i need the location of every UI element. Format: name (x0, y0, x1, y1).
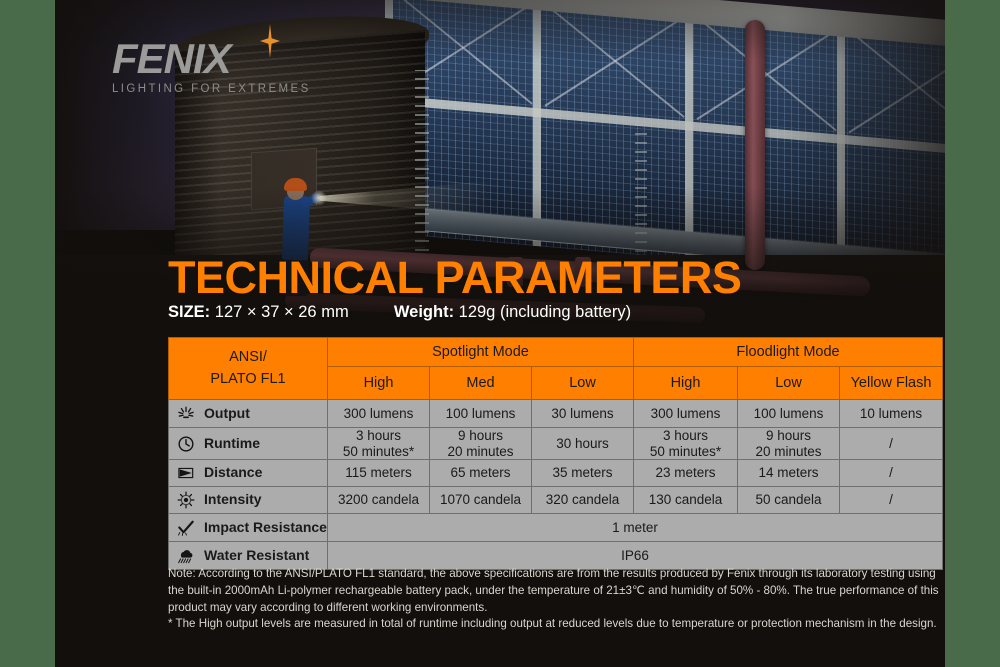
cell-output-spot-med: 100 lumens (430, 400, 532, 428)
cell-distance-yellow-flash: / (840, 460, 943, 487)
cell-runtime-flood-high: 3 hours 50 minutes* (634, 428, 738, 460)
checkmark-impact-icon (175, 518, 197, 538)
cell-distance-spot-high: 115 meters (328, 460, 430, 487)
cell-distance-spot-med: 65 meters (430, 460, 532, 487)
weight-label: Weight: (394, 303, 454, 321)
rain-cloud-icon (175, 546, 197, 566)
cell-distance-flood-low: 14 meters (738, 460, 840, 487)
row-label-text-impact-resistance: Impact Resistance (204, 520, 327, 536)
sunburst-icon (175, 404, 197, 424)
row-label-distance: Distance (169, 460, 328, 487)
cell-runtime-spot-high-l1: 3 hours (328, 428, 429, 443)
cell-runtime-flood-low-l1: 9 hours (738, 428, 839, 443)
cell-intensity-flood-low: 50 candela (738, 487, 840, 514)
fenix-logo: FENIX LIGHTING FOR EXTREMES (112, 38, 342, 95)
cell-intensity-spot-low: 320 candela (532, 487, 634, 514)
cell-impact-resistance-value: 1 meter (328, 514, 943, 542)
table-row-output: Output 300 lumens 100 lumens 30 lumens 3… (169, 400, 943, 428)
technical-parameters-table: ANSI/ PLATO FL1 Spotlight Mode Floodligh… (168, 337, 943, 570)
cell-runtime-spot-med-l2: 20 minutes (430, 444, 531, 459)
row-label-text-distance: Distance (204, 465, 262, 481)
row-label-impact-resistance: Impact Resistance (169, 514, 328, 542)
header-level-flood-high: High (634, 367, 738, 400)
spec-summary-line: SIZE: 127 × 37 × 26 mm Weight: 129g (inc… (168, 303, 631, 322)
header-level-spot-low: Low (532, 367, 634, 400)
cell-runtime-flood-high-l2: 50 minutes* (634, 444, 737, 459)
cell-runtime-yellow-flash: / (840, 428, 943, 460)
row-label-text-output: Output (204, 406, 250, 422)
size-label: SIZE: (168, 303, 210, 321)
footnotes: Note: According to the ANSI/PLATO FL1 st… (168, 566, 943, 633)
row-label-runtime: Runtime (169, 428, 328, 460)
cell-runtime-flood-high-l1: 3 hours (634, 428, 737, 443)
cell-runtime-spot-med: 9 hours 20 minutes (430, 428, 532, 460)
cell-runtime-spot-low: 30 hours (532, 428, 634, 460)
table-row-impact-resistance: Impact Resistance 1 meter (169, 514, 943, 542)
cell-output-spot-low: 30 lumens (532, 400, 634, 428)
footnote-asterisk: * The High output levels are measured in… (168, 616, 943, 633)
ansi-line-2: PLATO FL1 (169, 369, 327, 391)
cell-output-flood-low: 100 lumens (738, 400, 840, 428)
cell-runtime-spot-high-l2: 50 minutes* (328, 444, 429, 459)
content-panel: FENIX LIGHTING FOR EXTREMES TECHNICAL PA… (55, 0, 945, 667)
header-level-spot-med: Med (430, 367, 532, 400)
footnote-standard: Note: According to the ANSI/PLATO FL1 st… (168, 566, 943, 616)
row-label-text-runtime: Runtime (204, 436, 260, 452)
cell-output-flood-high: 300 lumens (634, 400, 738, 428)
cell-runtime-spot-high: 3 hours 50 minutes* (328, 428, 430, 460)
cell-runtime-flood-low: 9 hours 20 minutes (738, 428, 840, 460)
row-label-intensity: Intensity (169, 487, 328, 514)
header-level-flood-low: Low (738, 367, 840, 400)
page-title: TECHNICAL PARAMETERS (168, 255, 741, 300)
clock-icon (175, 434, 197, 454)
logo-wordmark: FENIX (112, 38, 342, 80)
ansi-line-1: ANSI/ (169, 347, 327, 369)
cell-output-spot-high: 300 lumens (328, 400, 430, 428)
row-label-output: Output (169, 400, 328, 428)
row-label-text-intensity: Intensity (204, 492, 262, 508)
table-row-distance: Distance 115 meters 65 meters 35 meters … (169, 460, 943, 487)
header-spotlight-mode: Spotlight Mode (328, 338, 634, 367)
table-row-intensity: Intensity 3200 candela 1070 candela 320 … (169, 487, 943, 514)
cell-distance-flood-high: 23 meters (634, 460, 738, 487)
cell-intensity-spot-high: 3200 candela (328, 487, 430, 514)
header-level-spot-high: High (328, 367, 430, 400)
cell-runtime-flood-low-l2: 20 minutes (738, 444, 839, 459)
cell-runtime-spot-med-l1: 9 hours (430, 428, 531, 443)
table-header-row-groups: ANSI/ PLATO FL1 Spotlight Mode Floodligh… (169, 338, 943, 367)
size-value: 127 × 37 × 26 mm (215, 303, 349, 321)
cell-intensity-spot-med: 1070 candela (430, 487, 532, 514)
header-level-yellow-flash: Yellow Flash (840, 367, 943, 400)
screenshot-root: FENIX LIGHTING FOR EXTREMES TECHNICAL PA… (0, 0, 1000, 667)
row-label-text-water-resistant: Water Resistant (204, 548, 309, 564)
logo-tagline: LIGHTING FOR EXTREMES (112, 83, 342, 95)
cell-output-yellow-flash: 10 lumens (840, 400, 943, 428)
cell-intensity-flood-high: 130 candela (634, 487, 738, 514)
ansi-plato-corner-cell: ANSI/ PLATO FL1 (169, 338, 328, 400)
table-row-runtime: Runtime 3 hours 50 minutes* 9 hours 20 m… (169, 428, 943, 460)
target-intensity-icon (175, 490, 197, 510)
header-floodlight-mode: Floodlight Mode (634, 338, 943, 367)
beam-distance-icon (175, 463, 197, 483)
cell-intensity-yellow-flash: / (840, 487, 943, 514)
weight-value: 129g (including battery) (459, 303, 631, 321)
cell-distance-spot-low: 35 meters (532, 460, 634, 487)
